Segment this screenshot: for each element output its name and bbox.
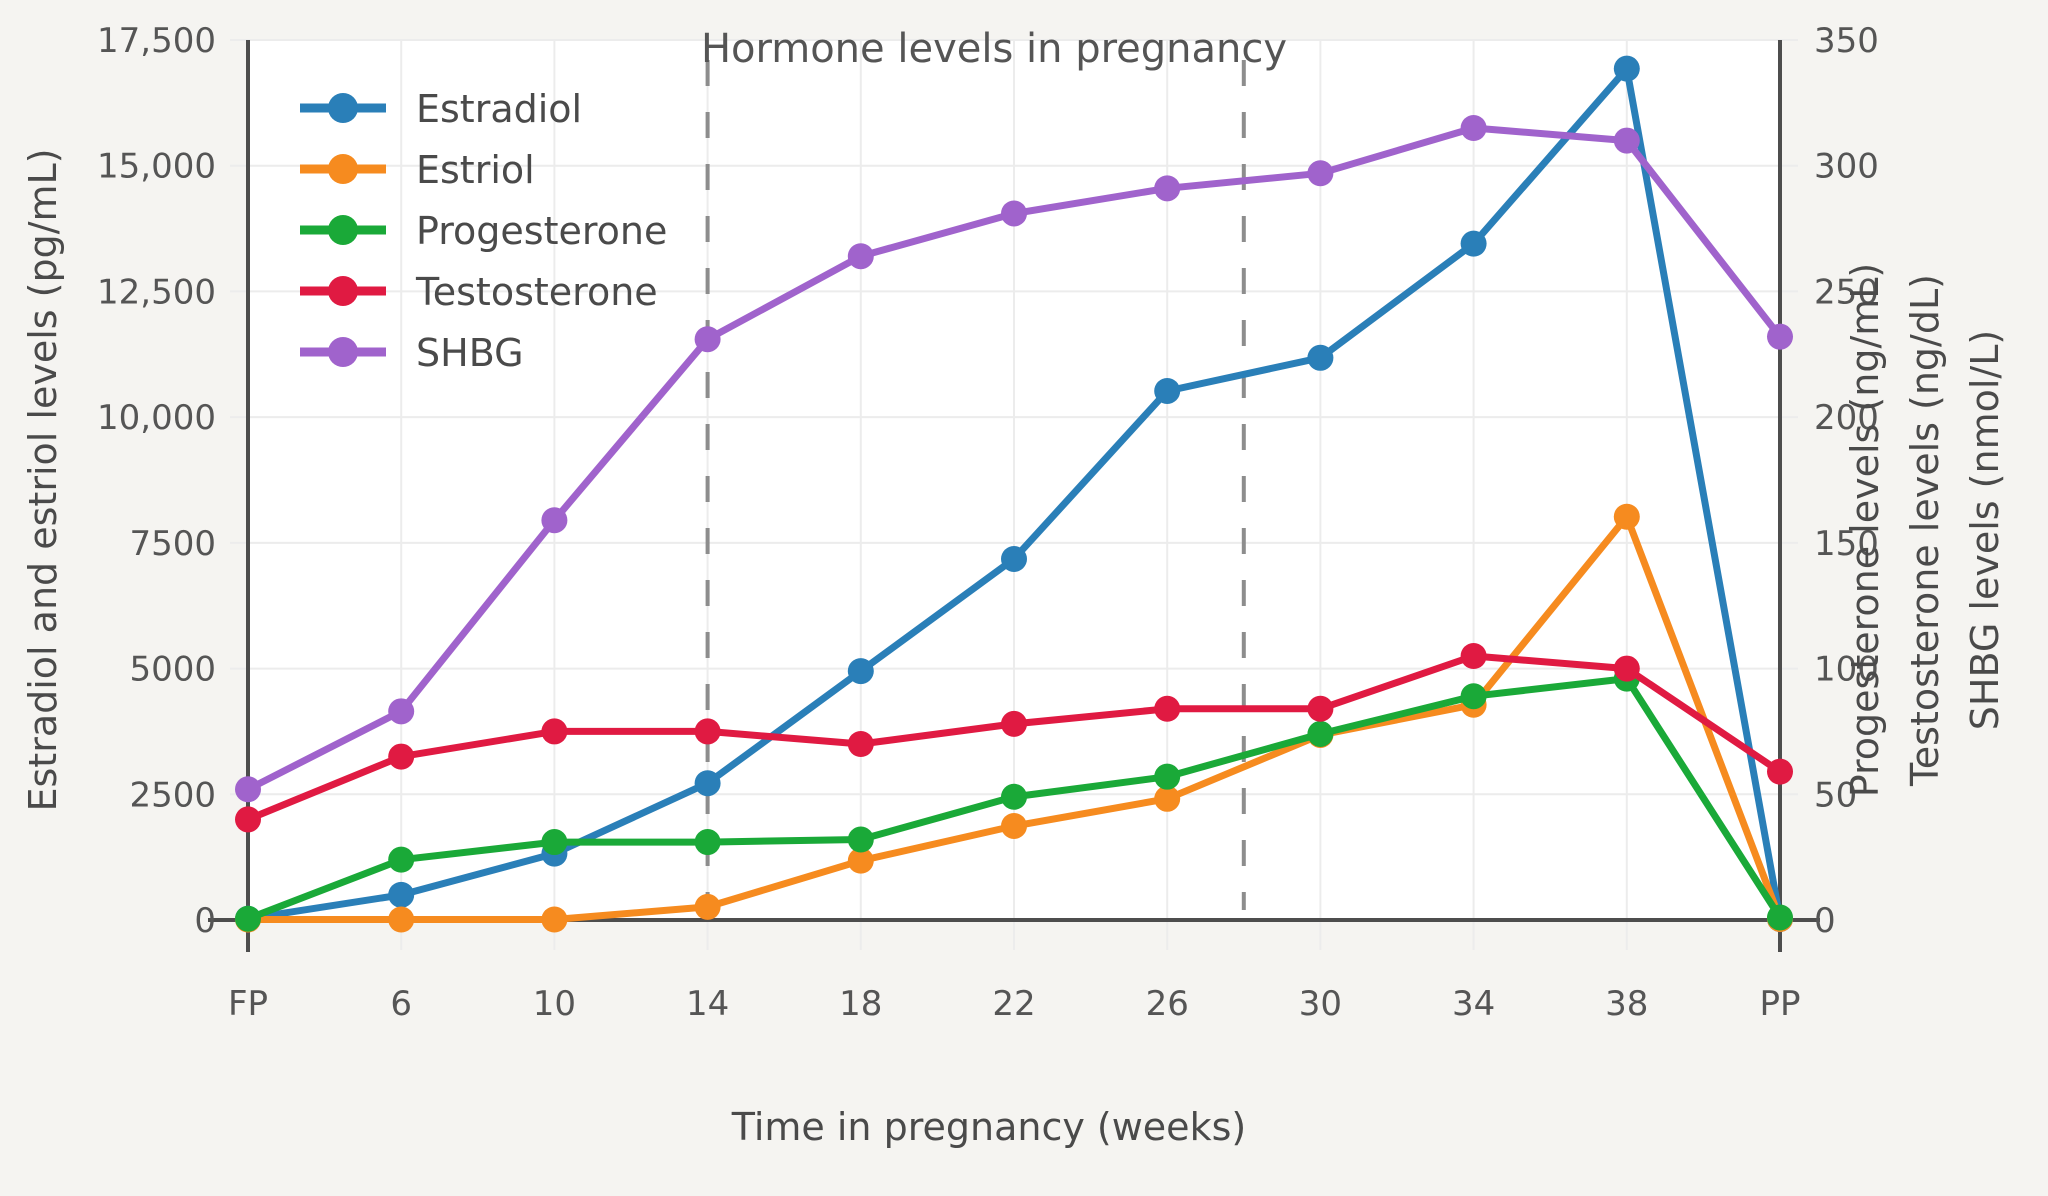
data-point-testosterone-14[interactable] — [695, 718, 721, 744]
data-point-testosterone-18[interactable] — [848, 731, 874, 757]
data-point-shbg-26[interactable] — [1154, 175, 1180, 201]
x-axis-ticks: FP61014182226303438PP — [228, 984, 1801, 1024]
x-axis-tick-label: 6 — [390, 984, 412, 1024]
legend-swatch-marker-testosterone — [328, 276, 358, 306]
legend-swatch-marker-shbg — [328, 337, 358, 367]
data-point-progesterone-26[interactable] — [1154, 764, 1180, 790]
x-axis-tick-label: 22 — [992, 984, 1035, 1024]
x-axis-tick-label: 38 — [1605, 984, 1648, 1024]
legend-label-testosterone: Testosterone — [415, 270, 658, 314]
x-axis-tick-label: 14 — [686, 984, 729, 1024]
x-axis-tick-label: 30 — [1299, 984, 1342, 1024]
hormone-levels-line-chart: 025005000750010,00012,50015,00017,500050… — [0, 0, 2048, 1196]
data-point-progesterone-30[interactable] — [1307, 721, 1333, 747]
legend-swatch-marker-estriol — [328, 154, 358, 184]
x-axis-tick-label: 26 — [1146, 984, 1189, 1024]
legend-label-estradiol: Estradiol — [416, 87, 582, 131]
data-point-progesterone-PP[interactable] — [1767, 904, 1793, 930]
data-point-shbg-18[interactable] — [848, 243, 874, 269]
data-point-estradiol-14[interactable] — [695, 770, 721, 796]
legend-swatch-marker-estradiol — [328, 93, 358, 123]
data-point-estradiol-34[interactable] — [1461, 231, 1487, 257]
y-axis-left-tick-label: 0 — [194, 901, 216, 941]
x-axis-tick-label: 18 — [839, 984, 882, 1024]
chart-title: Hormone levels in pregnancy — [701, 26, 1287, 72]
data-point-testosterone-38[interactable] — [1614, 656, 1640, 682]
data-point-estriol-6[interactable] — [388, 906, 414, 932]
x-axis-tick-label: 10 — [533, 984, 576, 1024]
y-axis-right-tick-label: 350 — [1814, 21, 1879, 61]
data-point-estradiol-26[interactable] — [1154, 378, 1180, 404]
data-point-progesterone-22[interactable] — [1001, 784, 1027, 810]
y-axis-left-tick-label: 15,000 — [97, 147, 216, 187]
data-point-testosterone-26[interactable] — [1154, 696, 1180, 722]
y-axis-left-tick-label: 7500 — [129, 524, 216, 564]
data-point-estradiol-22[interactable] — [1001, 546, 1027, 572]
y-axis-left-tick-label: 10,000 — [97, 398, 216, 438]
legend-label-shbg: SHBG — [416, 331, 524, 375]
x-axis-tick-label: FP — [228, 984, 268, 1024]
data-point-testosterone-10[interactable] — [541, 718, 567, 744]
y-axis-right-title-shbg: SHBG levels (nmol/L) — [1963, 330, 2007, 730]
data-point-shbg-PP[interactable] — [1767, 324, 1793, 350]
data-point-testosterone-PP[interactable] — [1767, 759, 1793, 785]
x-axis-title: Time in pregnancy (weeks) — [731, 1105, 1246, 1149]
data-point-testosterone-34[interactable] — [1461, 643, 1487, 669]
y-axis-right-title-progesterone: Progesterone levels (ng/mL) — [1843, 263, 1887, 798]
data-point-estriol-14[interactable] — [695, 894, 721, 920]
legend-label-estriol: Estriol — [416, 148, 535, 192]
data-point-testosterone-FP[interactable] — [235, 806, 261, 832]
data-point-shbg-10[interactable] — [541, 507, 567, 533]
y-axis-left-tick-label: 12,500 — [97, 272, 216, 312]
data-point-testosterone-22[interactable] — [1001, 711, 1027, 737]
data-point-shbg-14[interactable] — [695, 326, 721, 352]
legend-label-progesterone: Progesterone — [416, 209, 667, 253]
y-axis-left-tick-label: 2500 — [129, 775, 216, 815]
chart-container: 025005000750010,00012,50015,00017,500050… — [0, 0, 2048, 1196]
data-point-testosterone-6[interactable] — [388, 744, 414, 770]
data-point-estriol-38[interactable] — [1614, 504, 1640, 530]
data-point-shbg-FP[interactable] — [235, 776, 261, 802]
x-axis-tick-label: PP — [1759, 984, 1800, 1024]
data-point-progesterone-14[interactable] — [695, 829, 721, 855]
data-point-estradiol-38[interactable] — [1614, 56, 1640, 82]
data-point-testosterone-30[interactable] — [1307, 696, 1333, 722]
legend-swatch-marker-progesterone — [328, 215, 358, 245]
data-point-shbg-34[interactable] — [1461, 115, 1487, 141]
data-point-estriol-26[interactable] — [1154, 786, 1180, 812]
data-point-shbg-22[interactable] — [1001, 200, 1027, 226]
data-point-estradiol-18[interactable] — [848, 658, 874, 684]
y-axis-left-tick-label: 5000 — [129, 650, 216, 690]
data-point-progesterone-18[interactable] — [848, 827, 874, 853]
data-point-estradiol-6[interactable] — [388, 882, 414, 908]
y-axis-left-title: Estradiol and estriol levels (pg/mL) — [21, 148, 65, 811]
data-point-progesterone-FP[interactable] — [235, 906, 261, 932]
data-point-progesterone-6[interactable] — [388, 847, 414, 873]
data-point-shbg-6[interactable] — [388, 698, 414, 724]
data-point-estriol-10[interactable] — [541, 906, 567, 932]
y-axis-right-title-testosterone: Testosterone levels (ng/dL) — [1903, 274, 1947, 787]
y-axis-right-tick-label: 0 — [1814, 901, 1836, 941]
data-point-estradiol-30[interactable] — [1307, 345, 1333, 371]
data-point-progesterone-34[interactable] — [1461, 683, 1487, 709]
y-axis-right-tick-label: 300 — [1814, 147, 1879, 187]
y-axis-left-tick-label: 17,500 — [97, 21, 216, 61]
data-point-shbg-30[interactable] — [1307, 160, 1333, 186]
data-point-progesterone-10[interactable] — [541, 829, 567, 855]
x-axis-tick-label: 34 — [1452, 984, 1495, 1024]
data-point-shbg-38[interactable] — [1614, 128, 1640, 154]
data-point-estriol-22[interactable] — [1001, 813, 1027, 839]
y-axis-left-ticks: 025005000750010,00012,50015,00017,500 — [97, 21, 216, 941]
